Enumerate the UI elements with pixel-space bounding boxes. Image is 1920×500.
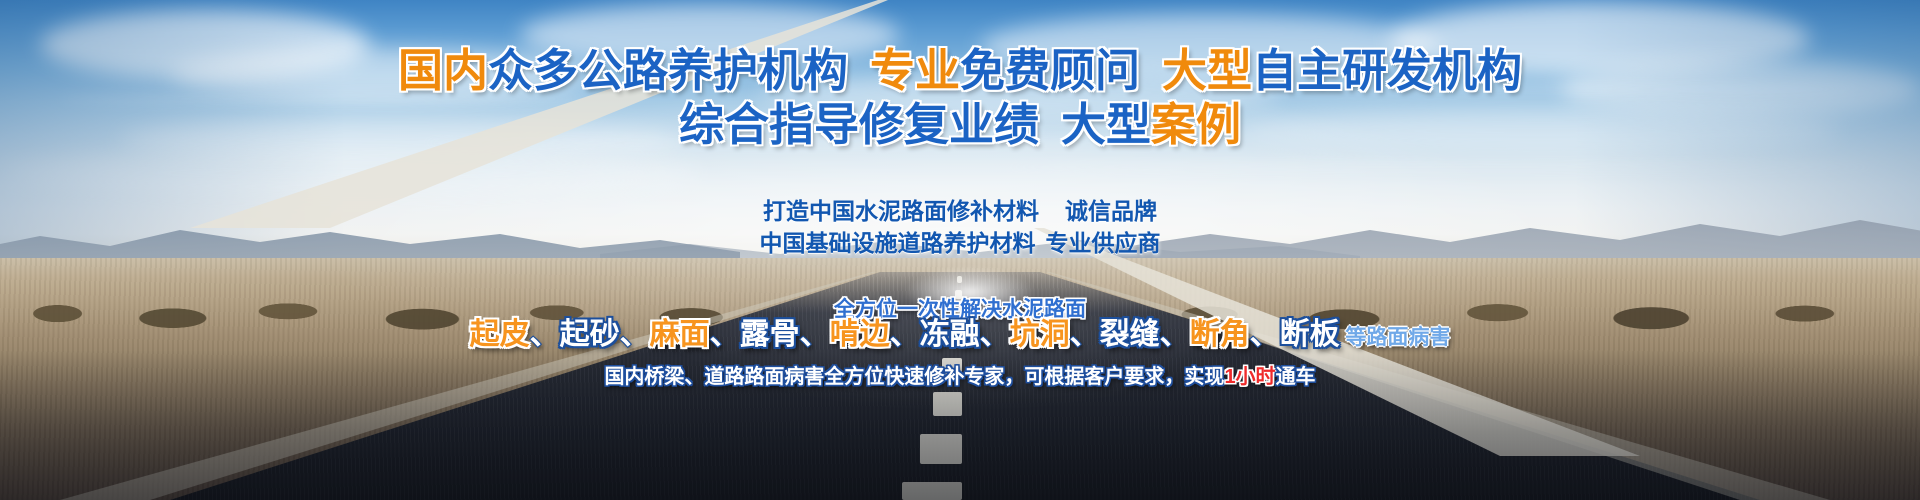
- defect-item: 坑洞: [1010, 318, 1070, 351]
- promo-banner: 国内众多公路养护机构专业免费顾问大型自主研发机构 综合指导修复业绩大型案例 打造…: [0, 0, 1920, 500]
- defect-separator: 、: [800, 318, 830, 351]
- subtitle-infrastructure-text: 中国基础设施道路养护材料: [760, 230, 1036, 256]
- headline-seg-agencies: 众多公路养护机构: [488, 45, 848, 96]
- defect-separator: 、: [710, 318, 740, 351]
- headline-line-1: 国内众多公路养护机构专业免费顾问大型自主研发机构: [0, 46, 1920, 96]
- closing-text-a: 国内桥梁、道路路面病害全方位快速修补专家，可根据客户要求，实现: [604, 366, 1224, 388]
- defect-item: 啃边: [830, 318, 890, 351]
- headline-seg-professional: 专业: [870, 45, 960, 96]
- defect-item: 起砂: [560, 318, 620, 351]
- defect-item: 起皮: [470, 318, 530, 351]
- defect-item: 冻融: [920, 318, 980, 351]
- defect-item: 麻面: [650, 318, 710, 351]
- defect-item: 断角: [1190, 318, 1250, 351]
- one-hour-highlight: 1小时: [1224, 366, 1275, 388]
- banner-content: 国内众多公路养护机构专业免费顾问大型自主研发机构 综合指导修复业绩大型案例 打造…: [0, 0, 1920, 500]
- defect-list: 起皮、起砂、麻面、露骨、啃边、冻融、坑洞、裂缝、断角、断板 等路面病害: [0, 318, 1920, 355]
- headline-seg-domestic: 国内: [398, 45, 488, 96]
- headline-seg-repair-record: 综合指导修复业绩: [679, 99, 1039, 150]
- defect-separator: 、: [980, 318, 1010, 351]
- defect-separator: 、: [1070, 318, 1100, 351]
- closing-line: 国内桥梁、道路路面病害全方位快速修补专家，可根据客户要求，实现1小时通车: [0, 360, 1920, 389]
- headline-seg-cases: 案例: [1151, 99, 1241, 150]
- subtitle-supplier-text: 专业供应商: [1046, 230, 1161, 256]
- headline-seg-free-consult: 免费顾问: [960, 45, 1140, 96]
- headline-seg-large: 大型: [1061, 99, 1151, 150]
- defect-separator: 、: [1160, 318, 1190, 351]
- defect-separator: 、: [530, 318, 560, 351]
- defect-item: 露骨: [740, 318, 800, 351]
- defect-separator: 、: [890, 318, 920, 351]
- headline-line-2: 综合指导修复业绩大型案例: [0, 100, 1920, 150]
- subtitle-line-2: 中国基础设施道路养护材料专业供应商: [0, 224, 1920, 258]
- defect-suffix: 等路面病害: [1340, 326, 1451, 349]
- defect-item: 裂缝: [1100, 318, 1160, 351]
- subtitle-line-1: 打造中国水泥路面修补材料诚信品牌: [0, 192, 1920, 226]
- defect-separator: 、: [1250, 318, 1280, 351]
- closing-text-b: 通车: [1276, 366, 1316, 388]
- headline-seg-large-scale: 大型: [1162, 45, 1252, 96]
- defect-separator: 、: [620, 318, 650, 351]
- defect-item: 断板: [1280, 318, 1340, 351]
- subtitle-material-text: 打造中国水泥路面修补材料: [763, 198, 1039, 224]
- headline-seg-rnd-institution: 自主研发机构: [1252, 45, 1522, 96]
- subtitle-brand-text: 诚信品牌: [1065, 198, 1157, 224]
